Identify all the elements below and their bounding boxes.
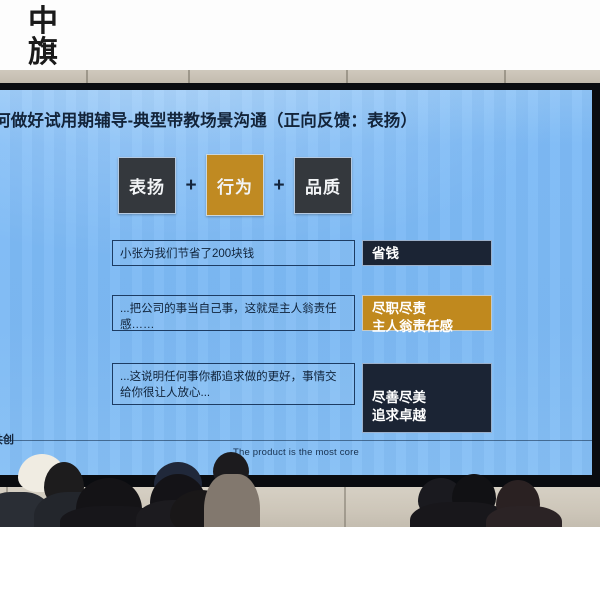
- projection-screen: 何做好试用期辅导-典型带教场景沟通（正向反馈：表扬） 表扬 + 行为 + 品质 …: [0, 90, 592, 475]
- slide-footer-left: 共创: [0, 431, 14, 447]
- example-quote-1: 小张为我们节省了200块钱: [112, 240, 355, 266]
- bottom-white-band: [0, 527, 600, 600]
- top-white-band: [0, 0, 600, 72]
- example-tag-2: 尽职尽责 主人翁责任感: [362, 295, 492, 331]
- example-tag-3: 尽善尽美 追求卓越: [362, 363, 492, 433]
- photograph-of-training-session: 中 旗 何做好试用期辅导-典型带教场景沟通（正向反馈：表扬） 表扬 + 行为 +…: [0, 0, 600, 600]
- wall-seam-bottom: [344, 487, 346, 527]
- example-tag-1: 省钱: [362, 240, 492, 266]
- slide-footer-center: The product is the most core: [0, 447, 592, 458]
- example-quote-3: ...这说明任何事你都追求做的更好，事情交给你很让人放心...: [112, 363, 355, 405]
- audience-body: [204, 474, 260, 532]
- slide-divider: [0, 440, 592, 441]
- example-quote-2: ...把公司的事当自己事，这就是主人翁责任感……: [112, 295, 355, 331]
- company-logo-zhongqi: 中 旗: [14, 6, 72, 68]
- examples-list: 小张为我们节省了200块钱 省钱 ...把公司的事当自己事，这就是主人翁责任感……: [0, 90, 592, 475]
